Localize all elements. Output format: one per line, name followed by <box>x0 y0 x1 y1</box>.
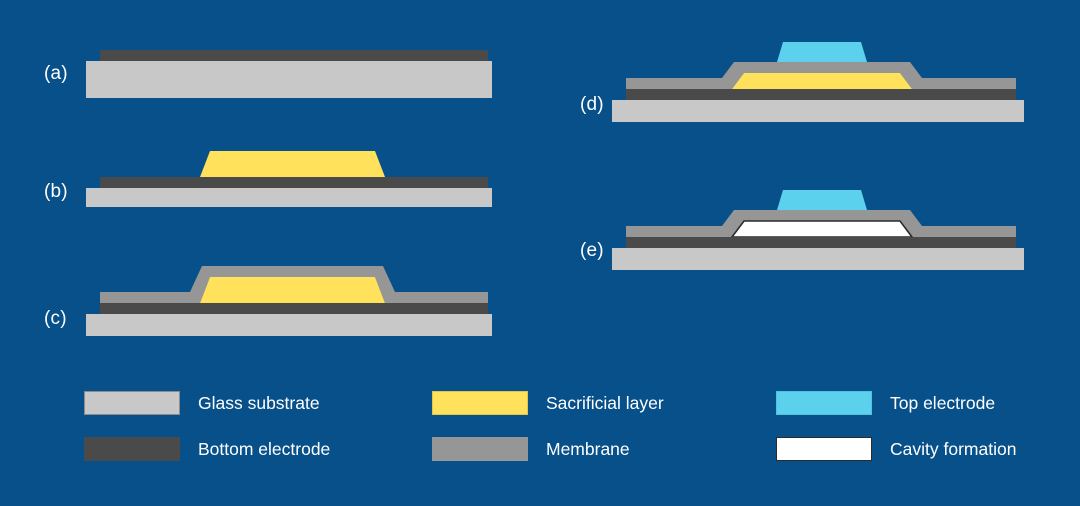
legend-swatch-sacrificial-layer <box>432 391 528 415</box>
panel-label-d: (d) <box>580 94 604 116</box>
legend-label-bottom-electrode: Bottom electrode <box>198 439 330 460</box>
legend-label-cavity-formation: Cavity formation <box>890 439 1016 460</box>
panel-e-stack <box>612 184 1032 270</box>
panel-label-e: (e) <box>580 240 604 262</box>
panel-c-stack <box>80 262 500 336</box>
top-electrode-layer <box>777 190 867 210</box>
glass-substrate-layer <box>86 61 492 98</box>
cavity-formation-layer <box>732 221 912 237</box>
legend-label-sacrificial-layer: Sacrificial layer <box>546 393 664 414</box>
panel-d-stack <box>612 36 1032 122</box>
legend-swatch-bottom-electrode <box>84 437 180 461</box>
legend-item-top-electrode: Top electrode <box>776 380 1080 426</box>
glass-substrate-layer <box>612 100 1024 122</box>
glass-substrate-layer <box>612 248 1024 270</box>
panel-b-stack <box>80 145 500 207</box>
glass-substrate-layer <box>86 314 492 336</box>
legend-item-bottom-electrode: Bottom electrode <box>84 426 424 472</box>
panel-label-b: (b) <box>44 181 68 203</box>
process-flow-figure: (a) (b) (c) (d) <box>0 0 1080 506</box>
panel-label-c: (c) <box>44 308 67 330</box>
legend-swatch-glass-substrate <box>84 391 180 415</box>
legend-column-3: Top electrode Cavity formation <box>776 380 1080 472</box>
bottom-electrode-layer <box>626 237 1016 248</box>
sacrificial-layer <box>732 73 912 89</box>
bottom-electrode-layer <box>100 303 488 314</box>
panel-a-stack <box>80 42 500 98</box>
legend-swatch-cavity-formation <box>776 437 872 461</box>
legend-item-sacrificial-layer: Sacrificial layer <box>432 380 772 426</box>
bottom-electrode-layer <box>100 177 488 188</box>
bottom-electrode-layer <box>100 50 488 61</box>
legend-label-top-electrode: Top electrode <box>890 393 995 414</box>
legend-label-membrane: Membrane <box>546 439 630 460</box>
legend-swatch-top-electrode <box>776 391 872 415</box>
legend-item-cavity-formation: Cavity formation <box>776 426 1080 472</box>
panel-label-a: (a) <box>44 63 68 85</box>
legend-item-membrane: Membrane <box>432 426 772 472</box>
legend-swatch-membrane <box>432 437 528 461</box>
legend-column-1: Glass substrate Bottom electrode <box>84 380 424 472</box>
glass-substrate-layer <box>86 188 492 207</box>
legend-label-glass-substrate: Glass substrate <box>198 393 320 414</box>
legend-item-glass-substrate: Glass substrate <box>84 380 424 426</box>
sacrificial-layer <box>200 151 385 177</box>
legend: Glass substrate Bottom electrode Sacrifi… <box>0 380 1080 480</box>
top-electrode-layer <box>777 42 867 62</box>
bottom-electrode-layer <box>626 89 1016 100</box>
sacrificial-layer <box>200 277 385 303</box>
legend-column-2: Sacrificial layer Membrane <box>432 380 772 472</box>
